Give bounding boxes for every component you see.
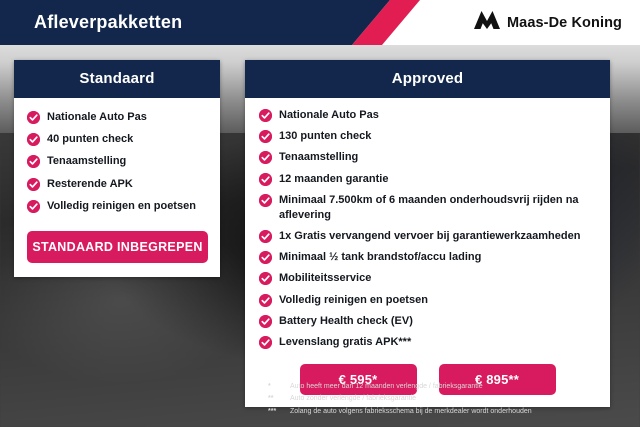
package-card-standaard: Standaard Nationale Auto Pas 40 punten c… — [14, 60, 220, 277]
feature-label: Mobiliteitsservice — [279, 271, 371, 286]
footnote-double-asterisk: ** Auto zonder verlengde / fabrieksgaran… — [268, 393, 618, 405]
feature-label: Tenaamstelling — [279, 150, 358, 165]
feature-label: 40 punten check — [47, 132, 133, 147]
list-item: 12 maanden garantie — [259, 172, 596, 187]
list-item: Volledig reinigen en poetsen — [259, 293, 596, 308]
list-item: Volledig reinigen en poetsen — [27, 199, 208, 214]
check-circle-icon — [27, 200, 40, 213]
feature-label: Minimaal ½ tank brandstof/accu lading — [279, 250, 481, 265]
feature-label: Resterende APK — [47, 177, 133, 192]
check-circle-icon — [27, 111, 40, 124]
check-circle-icon — [259, 173, 272, 186]
feature-label: Battery Health check (EV) — [279, 314, 413, 329]
card-body-approved: Nationale Auto Pas 130 punten check Tena… — [245, 98, 610, 407]
brand-lockup: Maas-De Koning — [474, 0, 622, 45]
list-item: 1x Gratis vervangend vervoer bij garanti… — [259, 229, 596, 244]
list-item: Minimaal ½ tank brandstof/accu lading — [259, 250, 596, 265]
feature-label: 12 maanden garantie — [279, 172, 388, 187]
page-title: Afleverpakketten — [34, 0, 182, 45]
card-title-standaard: Standaard — [14, 60, 220, 98]
footnote-triple-asterisk: *** Zolang de auto volgens fabrieksschem… — [268, 406, 618, 418]
footnote-single-asterisk: * Auto heeft meer dan 12 maanden verleng… — [268, 381, 618, 393]
list-item: Levenslang gratis APK*** — [259, 335, 596, 350]
check-circle-icon — [259, 294, 272, 307]
list-item: Minimaal 7.500km of 6 maanden onderhouds… — [259, 193, 596, 223]
list-item: Resterende APK — [27, 177, 208, 192]
slide-canvas: Afleverpakketten Maas-De Koning Standaar… — [0, 0, 640, 427]
feature-list-approved: Nationale Auto Pas 130 punten check Tena… — [259, 108, 596, 350]
feature-label: Levenslang gratis APK*** — [279, 335, 411, 350]
feature-label: 1x Gratis vervangend vervoer bij garanti… — [279, 229, 580, 244]
check-circle-icon — [259, 109, 272, 122]
feature-label: Nationale Auto Pas — [279, 108, 379, 123]
feature-label: Volledig reinigen en poetsen — [279, 293, 428, 308]
check-circle-icon — [27, 178, 40, 191]
list-item: 130 punten check — [259, 129, 596, 144]
feature-label: Tenaamstelling — [47, 154, 126, 169]
list-item: 40 punten check — [27, 132, 208, 147]
list-item: Nationale Auto Pas — [27, 110, 208, 125]
feature-label: 130 punten check — [279, 129, 371, 144]
footnote-marker: * — [268, 381, 290, 393]
check-circle-icon — [259, 251, 272, 264]
feature-label: Minimaal 7.500km of 6 maanden onderhouds… — [279, 193, 596, 223]
footnote-text: Zolang de auto volgens fabrieksschema bi… — [290, 406, 532, 418]
feature-label: Nationale Auto Pas — [47, 110, 147, 125]
card-body-standaard: Nationale Auto Pas 40 punten check Tenaa… — [14, 98, 220, 277]
card-title-approved: Approved — [245, 60, 610, 98]
list-item: Battery Health check (EV) — [259, 314, 596, 329]
check-circle-icon — [259, 272, 272, 285]
maas-de-koning-m-mark-icon — [474, 11, 500, 35]
check-circle-icon — [259, 130, 272, 143]
check-circle-icon — [27, 155, 40, 168]
check-circle-icon — [259, 151, 272, 164]
footnotes-block: * Auto heeft meer dan 12 maanden verleng… — [268, 381, 618, 418]
check-circle-icon — [259, 194, 272, 207]
check-circle-icon — [259, 336, 272, 349]
footnote-text: Auto heeft meer dan 12 maanden verlengde… — [290, 381, 483, 393]
check-circle-icon — [259, 230, 272, 243]
footnote-text: Auto zonder verlengde / fabrieksgarantie — [290, 393, 416, 405]
list-item: Mobiliteitsservice — [259, 271, 596, 286]
check-circle-icon — [259, 315, 272, 328]
brand-name: Maas-De Koning — [507, 15, 622, 31]
feature-label: Volledig reinigen en poetsen — [47, 199, 196, 214]
package-card-approved: Approved Nationale Auto Pas 130 punten c… — [245, 60, 610, 407]
feature-list-standaard: Nationale Auto Pas 40 punten check Tenaa… — [27, 110, 208, 214]
list-item: Tenaamstelling — [259, 150, 596, 165]
page-header: Afleverpakketten Maas-De Koning — [0, 0, 640, 45]
footnote-marker: *** — [268, 406, 290, 418]
footnote-marker: ** — [268, 393, 290, 405]
list-item: Nationale Auto Pas — [259, 108, 596, 123]
list-item: Tenaamstelling — [27, 154, 208, 169]
standaard-inbegrepen-button[interactable]: STANDAARD INBEGREPEN — [27, 231, 208, 263]
check-circle-icon — [27, 133, 40, 146]
